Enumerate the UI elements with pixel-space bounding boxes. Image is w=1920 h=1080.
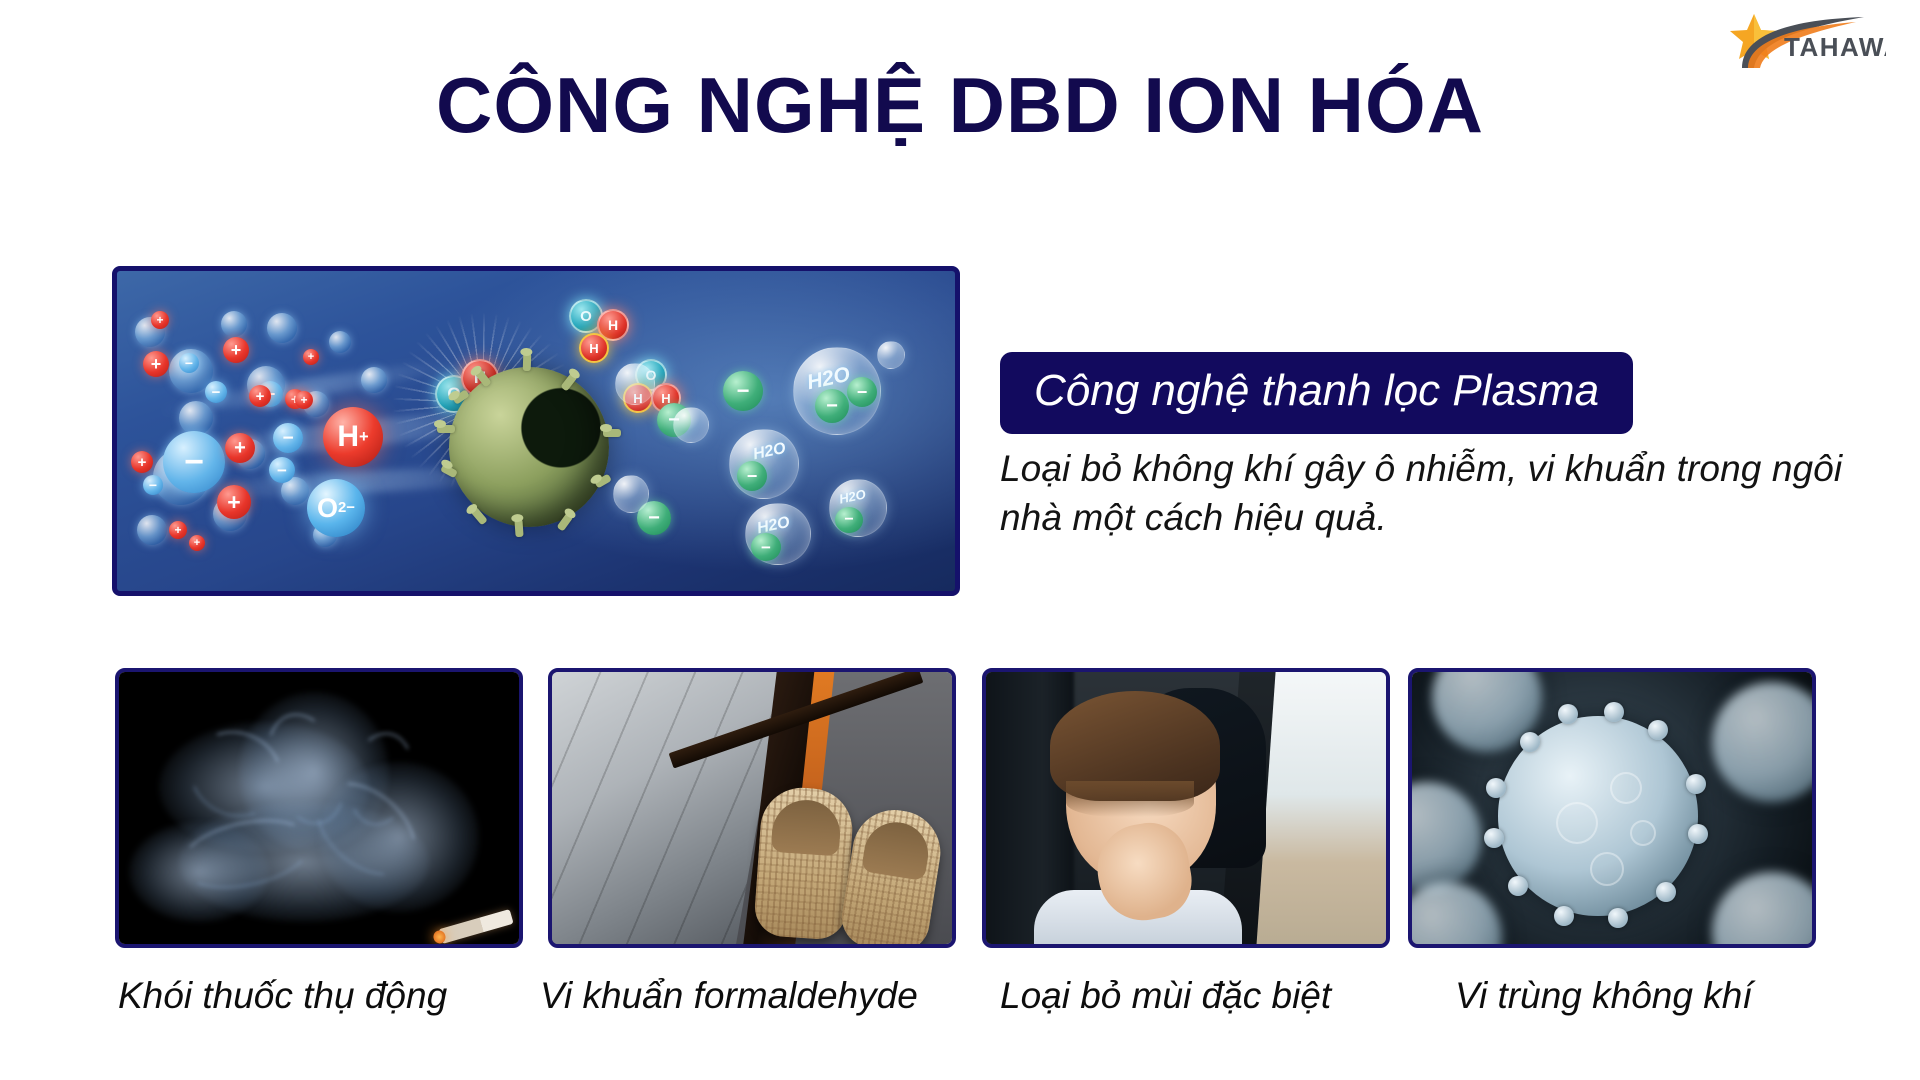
positive-ion: +: [225, 433, 255, 463]
virus-spike: [470, 507, 488, 526]
thumb-smoke[interactable]: [115, 668, 523, 948]
h-plus-superscript: +: [359, 428, 369, 447]
negative-ion: −: [143, 475, 163, 495]
negative-ion: −: [179, 353, 199, 373]
hero-artwork: − − − − − − − + + + + + + + + + + + + H+…: [117, 271, 955, 591]
slipper: [753, 785, 855, 941]
negative-ion: −: [205, 381, 227, 403]
water-droplet: [613, 475, 649, 513]
o2-label: O: [317, 493, 338, 524]
coronavirus-photo: [1412, 672, 1812, 944]
ion-bubble: [361, 367, 387, 393]
virus-spike: [437, 425, 455, 433]
virus-background: [1712, 682, 1816, 802]
thumb-formaldehyde[interactable]: [548, 668, 956, 948]
ion-bubble: [267, 313, 297, 343]
feature-badge: Công nghệ thanh lọc Plasma: [1000, 352, 1633, 434]
virus-background: [1712, 872, 1816, 948]
caption-smoke: Khói thuốc thụ động: [118, 975, 447, 1017]
ion-bubble: [221, 311, 247, 337]
negative-ion-large: −: [163, 431, 225, 493]
virus-spike: [560, 372, 577, 391]
h-plus-sphere: H+: [323, 407, 383, 467]
ion-bubble: [179, 401, 213, 435]
o2-superscript: −: [346, 500, 355, 516]
caption-odor: Loại bỏ mùi đặc biệt: [1000, 975, 1331, 1017]
virus-background: [1408, 782, 1482, 892]
negative-ion: −: [273, 423, 303, 453]
virus-spike: [556, 512, 573, 531]
virus-spike: [452, 389, 470, 405]
positive-ion: +: [223, 337, 249, 363]
negative-ion-green: −: [751, 533, 781, 561]
child-hair: [1050, 691, 1220, 801]
virus-spike: [514, 519, 523, 538]
virus-main: [1498, 716, 1698, 916]
virus-particle: [449, 367, 609, 527]
smoke-photo: [119, 672, 519, 944]
water-droplet: [729, 429, 799, 499]
cigarette: [438, 909, 513, 944]
water-droplet: [615, 363, 655, 405]
positive-ion: +: [217, 485, 251, 519]
virus-spike: [523, 353, 532, 371]
water-droplet: [877, 341, 905, 369]
positive-ion: +: [303, 349, 319, 365]
h-plus-label: H: [337, 420, 359, 454]
o2-minus-sphere: O2−: [307, 479, 365, 537]
negative-ion-green: −: [835, 507, 863, 533]
ion-bubble: [329, 331, 351, 353]
positive-ion: +: [151, 311, 169, 329]
hero-plasma-image: − − − − − − − + + + + + + + + + + + + H+…: [112, 266, 960, 596]
feature-description: Loại bỏ không khí gây ô nhiễm, vi khuẩn …: [1000, 444, 1860, 542]
child-in-car-photo: [986, 672, 1386, 944]
thumb-germs[interactable]: [1408, 668, 1816, 948]
virus-spike: [594, 474, 612, 489]
virus-spike: [603, 429, 621, 437]
positive-ion: +: [169, 521, 187, 539]
caption-germs: Vi trùng không khí: [1455, 975, 1753, 1017]
thumb-odor[interactable]: [982, 668, 1390, 948]
page-title: CÔNG NGHỆ DBD ION HÓA: [0, 60, 1920, 151]
o2-subscript: 2: [338, 500, 346, 516]
positive-ion: +: [295, 391, 313, 409]
caption-formaldehyde: Vi khuẩn formaldehyde: [540, 975, 918, 1017]
logo-text: TAHAWA: [1784, 32, 1886, 62]
negative-ion-green: −: [737, 461, 767, 491]
negative-ion-green: −: [815, 389, 849, 423]
negative-ion: −: [269, 457, 295, 483]
virus-background: [1408, 882, 1502, 948]
negative-ion-green: −: [723, 371, 763, 411]
ion-bubble: [137, 515, 167, 545]
hydrogen-atom: H: [579, 333, 609, 363]
positive-ion: +: [249, 385, 271, 407]
positive-ion: +: [189, 535, 205, 551]
positive-ion: +: [143, 351, 169, 377]
slippers-photo: [552, 672, 952, 944]
positive-ion: +: [131, 451, 153, 473]
thumbnail-row: [0, 668, 1920, 958]
water-droplet: [673, 407, 709, 443]
negative-ion-green: −: [847, 377, 877, 407]
